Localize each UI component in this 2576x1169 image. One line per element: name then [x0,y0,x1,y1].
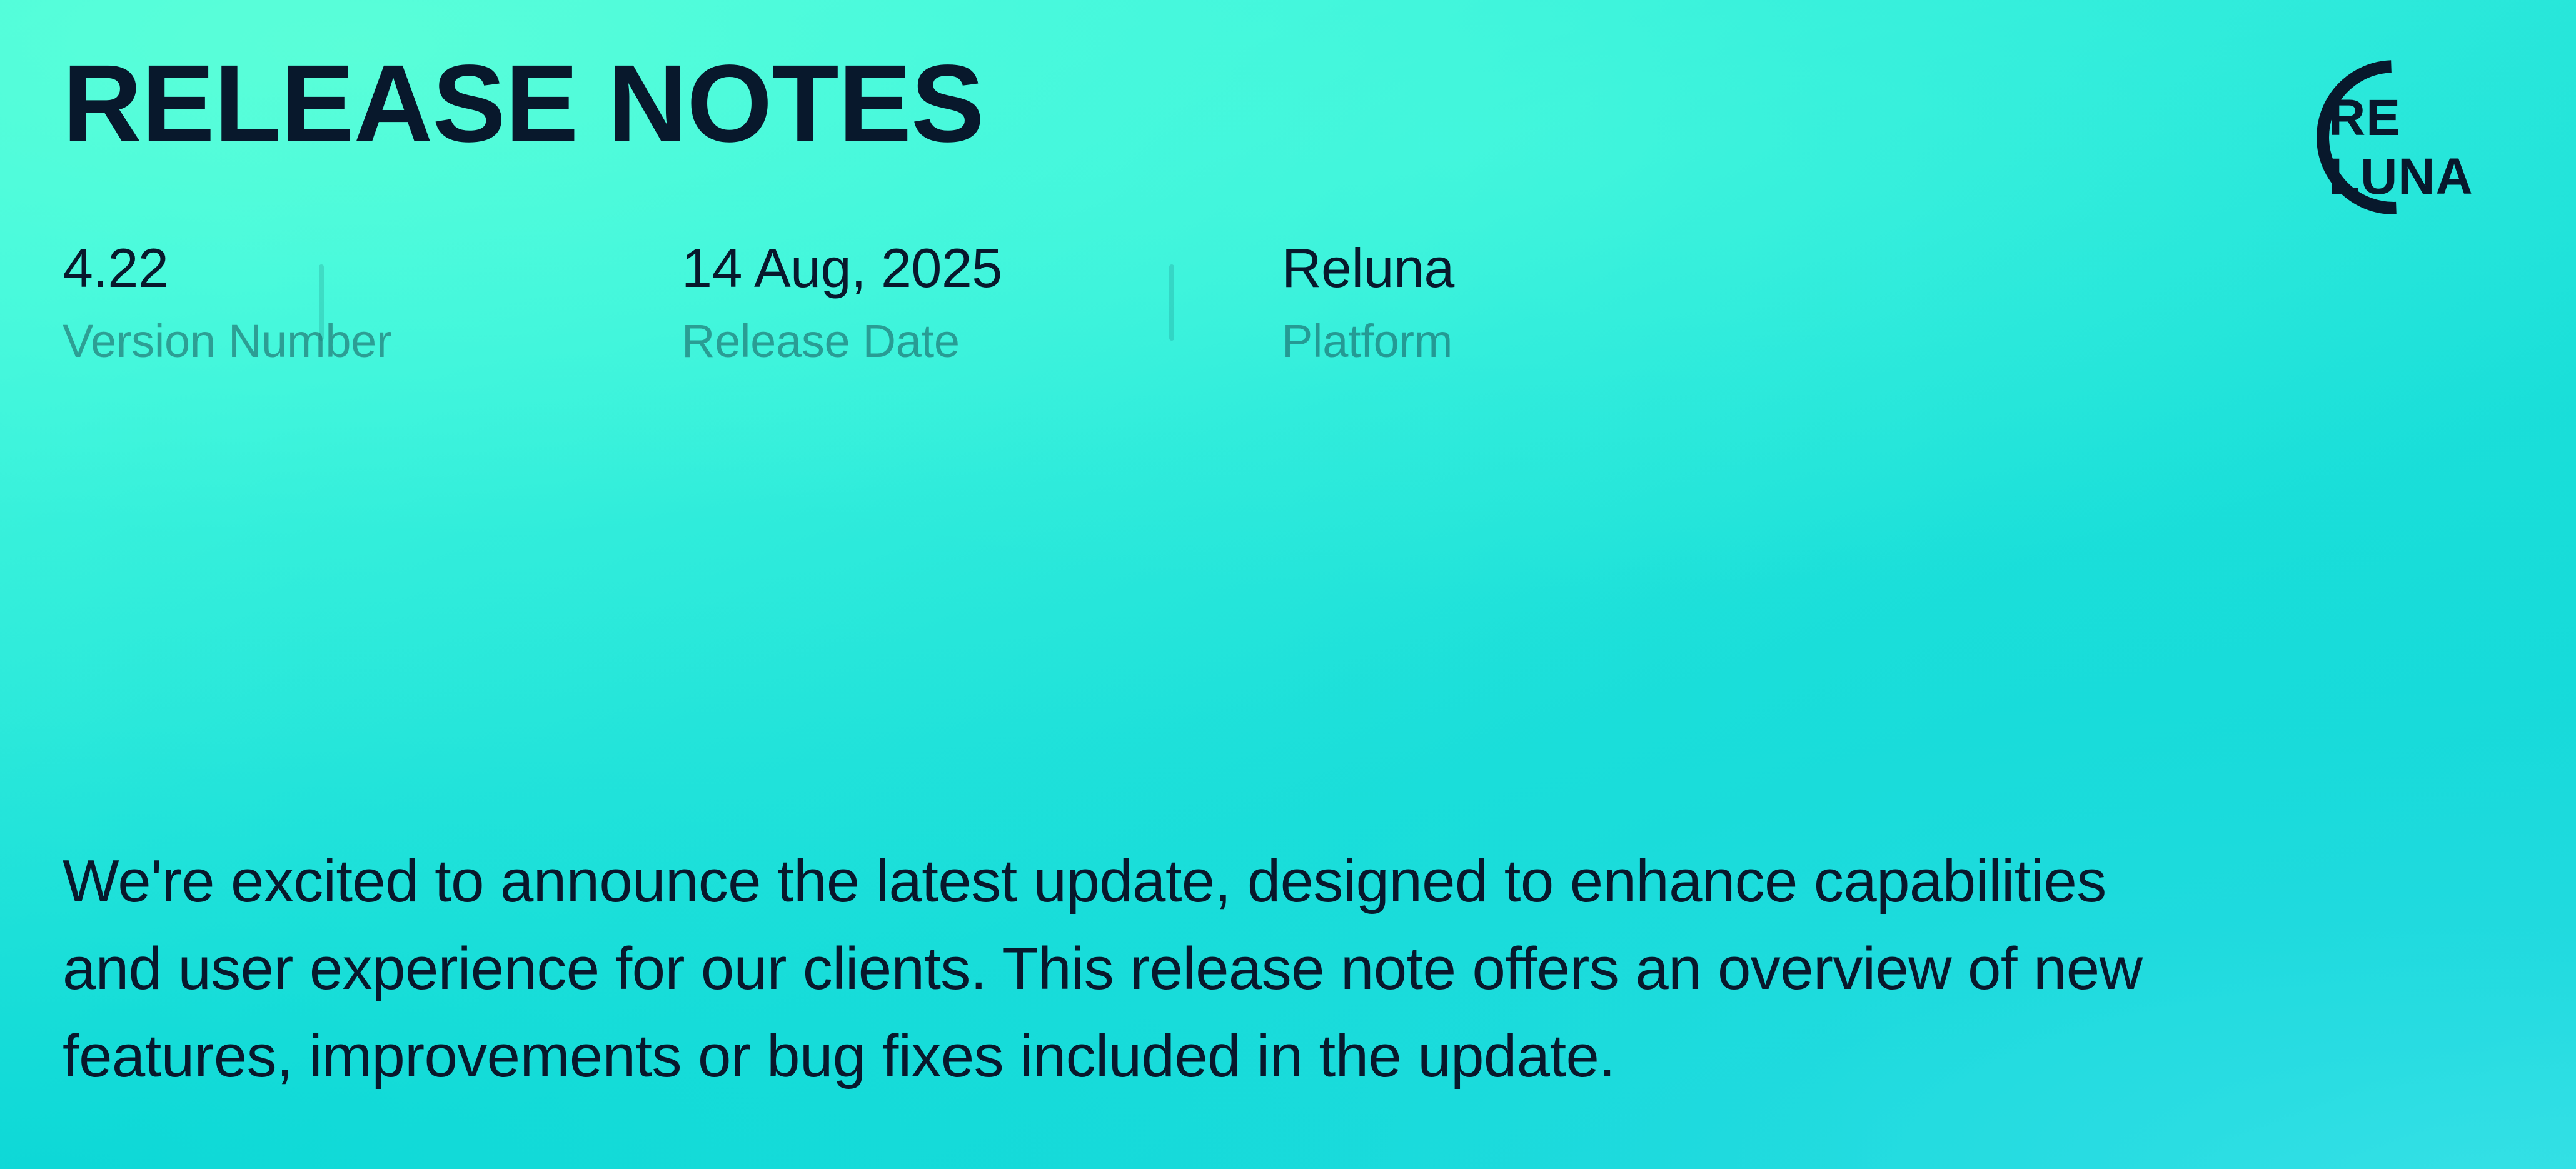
version-number-label: Version Number [63,318,682,364]
intro-paragraph: We're excited to announce the latest upd… [63,838,2563,1100]
release-notes-header: RELEASE NOTES 4.22 Version Number 14 Aug… [0,0,2576,1169]
meta-divider-1 [319,264,324,341]
intro-line-3: features, improvements or bug fixes incl… [63,1013,2563,1100]
intro-line-1: We're excited to announce the latest upd… [63,838,2563,925]
release-date-value: 14 Aug, 2025 [682,241,1282,296]
page-title: RELEASE NOTES [63,49,984,159]
meta-divider-2 [1169,264,1174,341]
release-date-label: Release Date [682,318,1282,364]
logo-text-luna: LUNA [2328,148,2473,205]
intro-line-2: and user experience for our clients. Thi… [63,925,2563,1013]
metadata-row: 4.22 Version Number 14 Aug, 2025 Release… [63,241,1454,364]
reluna-logo-svg: RE LUNA [2271,49,2533,230]
version-number-value: 4.22 [63,241,682,296]
platform-label: Platform [1282,318,1454,364]
logo-text-re: RE [2328,89,2401,146]
platform-value: Reluna [1282,241,1454,296]
meta-item-platform: Reluna Platform [1282,241,1454,364]
meta-item-release-date: 14 Aug, 2025 Release Date [682,241,1282,364]
reluna-logo: RE LUNA [2271,49,2533,230]
meta-item-version-number: 4.22 Version Number [63,241,682,364]
